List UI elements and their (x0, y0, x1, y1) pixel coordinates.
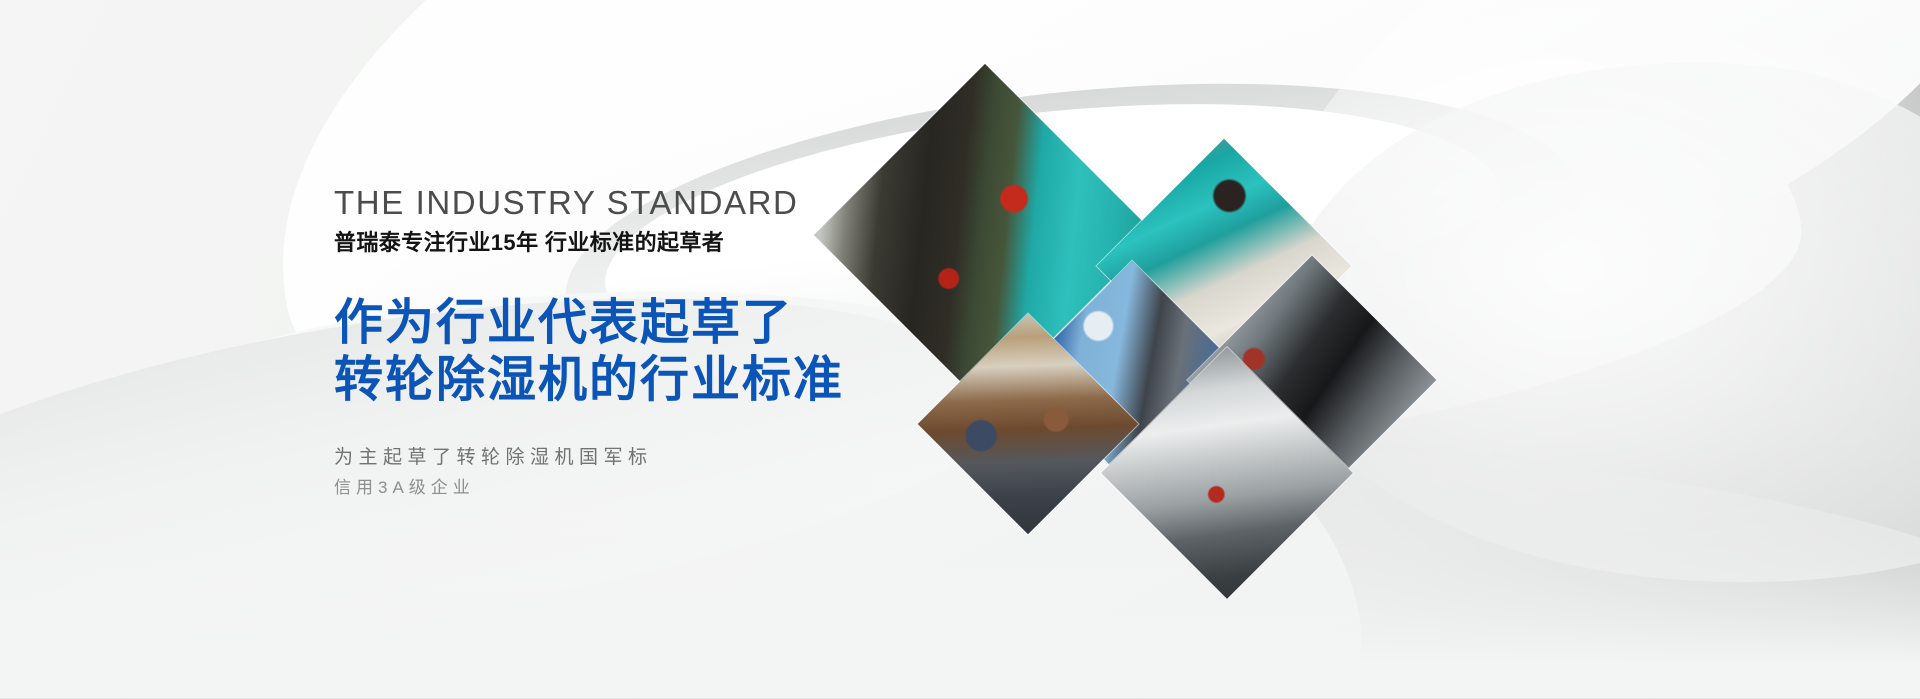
diamond-photo-collage (762, 96, 1552, 596)
hero-banner: THE INDUSTRY STANDARD 普瑞泰专注行业15年 行业标准的起草… (0, 0, 1920, 699)
